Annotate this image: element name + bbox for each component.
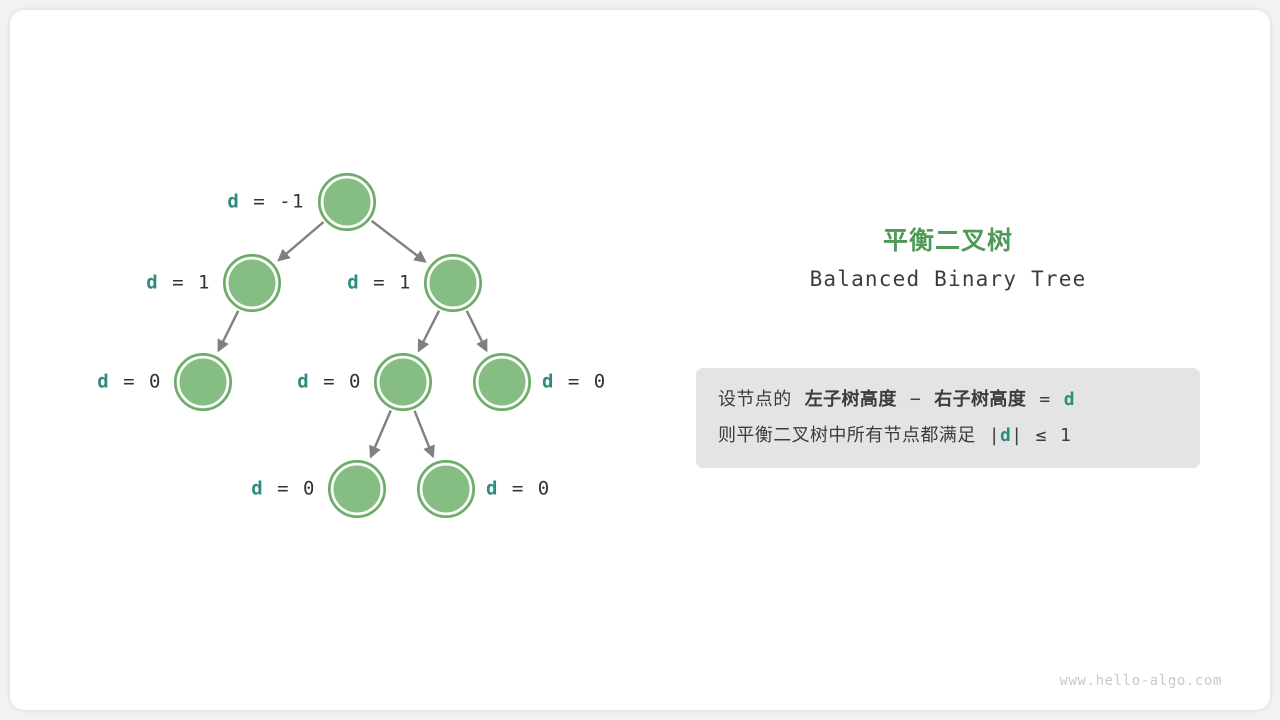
label-variable-d: d xyxy=(146,272,159,294)
variable-d-abs: d xyxy=(1000,425,1011,446)
label-value: -1 xyxy=(279,191,305,213)
condition-prefix: 则平衡二叉树中所有节点都满足 xyxy=(718,425,976,446)
watermark: www.hello-algo.com xyxy=(1059,673,1222,689)
tree-edge xyxy=(279,222,324,260)
variable-d: d xyxy=(1064,389,1075,410)
label-equals: = xyxy=(360,272,399,294)
node-body xyxy=(423,466,469,512)
tree-node xyxy=(329,461,385,517)
abs-bar-open: | xyxy=(989,425,1000,446)
label-value: 0 xyxy=(538,478,551,500)
abs-bar-close: | xyxy=(1011,425,1022,446)
node-balance-label: d = 1 xyxy=(347,274,412,293)
node-body xyxy=(479,359,525,405)
screenshot-root: d = -1d = 1d = 1d = 0d = 0d = 0d = 0d = … xyxy=(0,0,1280,720)
page-title: 平衡二叉树 xyxy=(696,224,1200,258)
node-balance-label: d = 0 xyxy=(486,480,551,499)
node-body xyxy=(229,260,275,306)
node-body xyxy=(334,466,380,512)
label-variable-d: d xyxy=(97,371,110,393)
definition-infobox: 设节点的 左子树高度 − 右子树高度 = d 则平衡二叉树中所有节点都满足 |d… xyxy=(696,368,1200,468)
label-equals: = xyxy=(240,191,279,213)
node-balance-label: d = 1 xyxy=(146,274,211,293)
label-equals: = xyxy=(499,478,538,500)
tree-edge xyxy=(219,311,239,351)
definition-line-1: 设节点的 左子树高度 − 右子树高度 = d xyxy=(718,382,1178,418)
label-variable-d: d xyxy=(251,478,264,500)
label-value: 1 xyxy=(399,272,412,294)
label-equals: = xyxy=(159,272,198,294)
tree-node xyxy=(418,461,474,517)
label-equals: = xyxy=(555,371,594,393)
label-equals: = xyxy=(264,478,303,500)
node-balance-label: d = 0 xyxy=(97,373,162,392)
page-subtitle: Balanced Binary Tree xyxy=(696,262,1200,296)
label-value: 1 xyxy=(198,272,211,294)
label-variable-d: d xyxy=(486,478,499,500)
panel-heading-group: 平衡二叉树 Balanced Binary Tree xyxy=(696,224,1200,296)
definition-line-2: 则平衡二叉树中所有节点都满足 |d| ≤ 1 xyxy=(718,418,1178,454)
label-value: 0 xyxy=(149,371,162,393)
tree-edge xyxy=(415,411,433,457)
node-body xyxy=(324,179,370,225)
tree-edge xyxy=(467,311,487,351)
tree-edge xyxy=(419,311,439,351)
tree-node xyxy=(474,354,530,410)
tree-node xyxy=(224,255,280,311)
label-variable-d: d xyxy=(227,191,240,213)
equals-operator: = xyxy=(1039,389,1050,410)
tree-nodes xyxy=(175,174,530,517)
right-subtree-height-term: 右子树高度 xyxy=(934,389,1026,410)
label-equals: = xyxy=(110,371,149,393)
bound-value: 1 xyxy=(1060,425,1071,446)
minus-operator: − xyxy=(910,389,921,410)
tree-edge xyxy=(372,221,426,262)
label-value: 0 xyxy=(303,478,316,500)
tree-node xyxy=(175,354,231,410)
node-body xyxy=(430,260,476,306)
tree-node xyxy=(375,354,431,410)
label-equals: = xyxy=(310,371,349,393)
node-balance-label: d = 0 xyxy=(542,373,607,392)
less-equal-operator: ≤ xyxy=(1036,425,1047,446)
label-variable-d: d xyxy=(347,272,360,294)
label-value: 0 xyxy=(594,371,607,393)
balanced-binary-tree-diagram xyxy=(0,0,1280,720)
definition-prefix: 设节点的 xyxy=(718,389,792,410)
label-variable-d: d xyxy=(542,371,555,393)
left-subtree-height-term: 左子树高度 xyxy=(805,389,897,410)
node-balance-label: d = 0 xyxy=(251,480,316,499)
node-balance-label: d = -1 xyxy=(227,193,305,212)
label-value: 0 xyxy=(349,371,362,393)
tree-node xyxy=(425,255,481,311)
node-balance-label: d = 0 xyxy=(297,373,362,392)
tree-node xyxy=(319,174,375,230)
tree-edge xyxy=(371,410,391,456)
node-body xyxy=(380,359,426,405)
label-variable-d: d xyxy=(297,371,310,393)
node-body xyxy=(180,359,226,405)
